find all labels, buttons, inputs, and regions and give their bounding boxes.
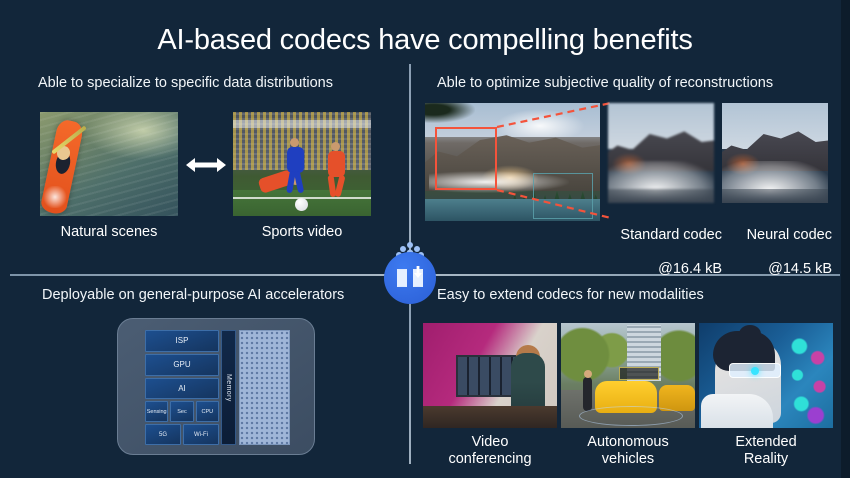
soc-block-isp: ISP bbox=[145, 330, 219, 352]
water-spray bbox=[42, 186, 68, 208]
soccer-ball bbox=[295, 198, 308, 211]
desk bbox=[423, 406, 557, 428]
book-pages-icon bbox=[384, 252, 436, 304]
soc-small-block-row-1: Sensing Sec CPU bbox=[145, 401, 219, 422]
soc-memory-bar: Memory bbox=[221, 330, 236, 445]
caption-standard-codec-line2: @16.4 kB bbox=[600, 261, 722, 278]
video-conferencing-photo bbox=[423, 323, 557, 428]
soc-block-5g: 5G bbox=[145, 424, 181, 445]
pedestrian-body bbox=[583, 377, 592, 411]
soc-diagram: ISP GPU AI Sensing Sec CPU 5G Wi-Fi Memo… bbox=[117, 318, 315, 455]
mountain-lake-photo bbox=[425, 103, 600, 221]
caption-natural-scenes: Natural scenes bbox=[40, 224, 178, 241]
standard-codec-crop bbox=[608, 103, 714, 203]
soc-block-sec: Sec bbox=[170, 401, 193, 422]
quadrant-heading-bottom-left: Deployable on general-purpose AI acceler… bbox=[42, 287, 344, 303]
cloud bbox=[495, 109, 585, 137]
video-call-grid bbox=[456, 355, 518, 397]
extended-reality-photo bbox=[699, 323, 833, 428]
vertical-divider-bottom bbox=[409, 288, 411, 464]
page-title: AI-based codecs have compelling benefits bbox=[0, 24, 850, 57]
street-sign bbox=[619, 367, 659, 380]
caption-neural-codec-line2: @14.5 kB bbox=[722, 261, 832, 278]
soc-small-block-row-2: 5G Wi-Fi bbox=[145, 424, 219, 445]
soccer-players-photo bbox=[233, 112, 371, 216]
soc-memory-array bbox=[239, 330, 290, 445]
caption-autonomous-vehicles: Autonomous vehicles bbox=[561, 434, 695, 468]
kayak-aerial-photo bbox=[40, 112, 178, 216]
caption-video-conferencing: Video conferencing bbox=[423, 434, 557, 468]
tree-branch bbox=[425, 103, 475, 123]
vertical-divider-top bbox=[409, 64, 411, 270]
soc-block-cpu: CPU bbox=[196, 401, 219, 422]
soc-block-ai: AI bbox=[145, 378, 219, 400]
crop-base bbox=[722, 189, 828, 203]
right-edge-strip bbox=[841, 0, 850, 478]
horizontal-divider-left bbox=[10, 274, 385, 276]
double-headed-arrow-icon bbox=[186, 155, 226, 175]
caption-standard-codec: Standard codec @16.4 kB bbox=[600, 210, 722, 296]
caption-extended-reality: Extended Reality bbox=[699, 434, 833, 468]
quadrant-heading-top-right: Able to optimize subjective quality of r… bbox=[437, 75, 773, 91]
lab-coat bbox=[701, 394, 773, 428]
soc-die: ISP GPU AI Sensing Sec CPU 5G Wi-Fi Memo… bbox=[145, 330, 290, 445]
low-fog bbox=[429, 171, 569, 193]
quadrant-heading-top-left: Able to specialize to specific data dist… bbox=[38, 75, 333, 91]
neural-codec-crop bbox=[722, 103, 828, 203]
codec-neural-badge bbox=[384, 252, 436, 304]
ar-glow-indicator bbox=[751, 367, 759, 375]
molecule-visualization bbox=[785, 329, 833, 425]
soc-block-sensing: Sensing bbox=[145, 401, 168, 422]
quadrant-heading-bottom-right: Easy to extend codecs for new modalities bbox=[437, 287, 704, 303]
stadium-band bbox=[233, 120, 371, 128]
scientist-hair-bun bbox=[739, 325, 761, 343]
lake-water bbox=[425, 199, 600, 221]
soc-block-column: ISP GPU AI Sensing Sec CPU 5G Wi-Fi bbox=[145, 330, 219, 445]
caption-sports-video: Sports video bbox=[233, 224, 371, 241]
slide-canvas: AI-based codecs have compelling benefits… bbox=[0, 0, 850, 478]
caption-neural-codec: Neural codec @14.5 kB bbox=[722, 210, 832, 296]
crop-base bbox=[608, 189, 714, 203]
second-car bbox=[659, 385, 695, 411]
soc-block-wifi: Wi-Fi bbox=[183, 424, 219, 445]
pedestrian-head bbox=[584, 370, 592, 378]
caption-standard-codec-line1: Standard codec bbox=[600, 227, 722, 244]
caption-neural-codec-line1: Neural codec bbox=[722, 227, 832, 244]
soc-memory-label: Memory bbox=[225, 374, 232, 402]
autonomous-vehicles-photo bbox=[561, 323, 695, 428]
sensor-halo bbox=[579, 406, 683, 426]
soc-block-gpu: GPU bbox=[145, 354, 219, 376]
